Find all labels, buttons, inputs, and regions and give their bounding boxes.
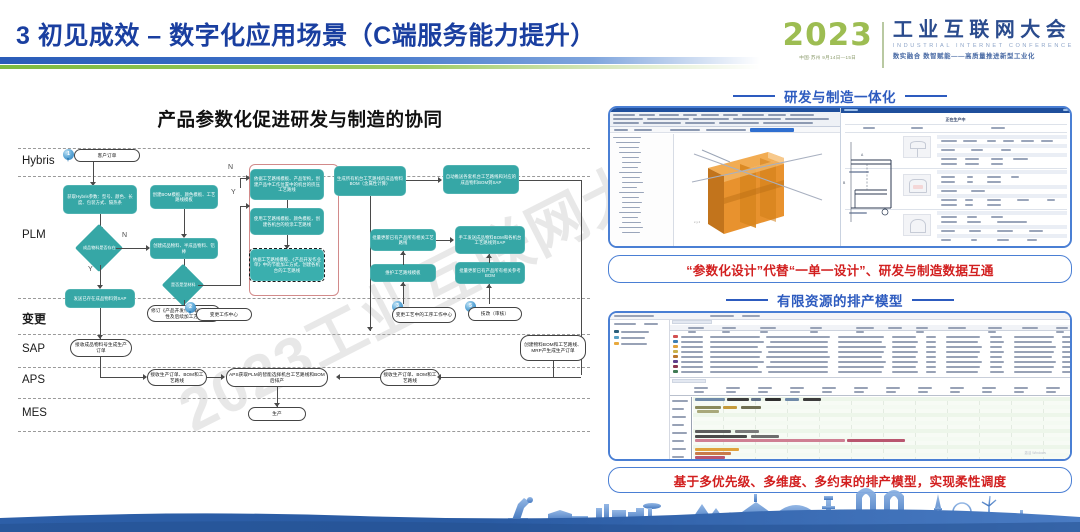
watermark-small: 激活 Windows: [1025, 450, 1046, 455]
svg-text:B: B: [843, 181, 846, 185]
city-skyline-icon: [0, 480, 1080, 532]
connector: [100, 377, 146, 378]
product-thumbnail: [903, 214, 931, 236]
arrow-head: [97, 335, 103, 339]
node-tpl-rule-b[interactable]: 使用工艺路线模板、颜色模板，创建各机台的喷涂工艺路线: [250, 208, 324, 235]
decision-label: 成品物料是否存在: [82, 245, 116, 250]
node-push-bom-sap[interactable]: 自动推送各套机台工艺路线和对应的成品物料BOM到SAP: [443, 165, 519, 194]
connector: [287, 200, 288, 208]
connector: [440, 377, 581, 378]
node-get-order-bom-1[interactable]: 接收生产订单、BOM和工艺路线: [147, 369, 207, 386]
arrow-head: [246, 203, 250, 209]
node-send-fg-to-sap[interactable]: 发送已存在成品物料到SAP: [65, 289, 135, 308]
connector: [184, 209, 185, 237]
slide-header: 3 初见成效 – 数字化应用场景（C端服务能力提升） 2023 中国·苏州 9月…: [0, 0, 1080, 82]
right-top-heading-wrap: 研发与制造一体化: [606, 86, 1074, 106]
logo-text-block: 工业互联网大会 INDUSTRIAL INTERNET CONFERENCE 数…: [884, 20, 1074, 60]
connector: [100, 357, 101, 377]
header-divider-rule: [0, 57, 760, 69]
form-title: 正在生产中: [841, 117, 1070, 123]
right-top-heading: 研发与制造一体化: [784, 86, 896, 106]
lane-label-hybris: Hybris: [22, 155, 55, 167]
node-create-bom-route-mrp[interactable]: 创建物料BOM和工艺路线、MRP产生成生产订单: [520, 335, 586, 361]
arrow-head: [400, 282, 406, 286]
timeline-header: [670, 384, 1070, 396]
lane-label-plm: PLM: [22, 229, 46, 241]
connector: [406, 180, 441, 181]
logo-year-block: 2023 中国·苏州 9月14日—15日: [783, 20, 882, 61]
page-title: 3 初见成效 – 数字化应用场景（C端服务能力提升）: [16, 16, 596, 52]
arrow-head: [367, 327, 373, 331]
gantt-grid[interactable]: 激活 Windows: [693, 397, 1070, 459]
node-change-workcenter[interactable]: 变更工作中心: [196, 308, 252, 321]
cad-3d-profile-model[interactable]: [672, 142, 832, 242]
cad-axis-label: x y z: [694, 220, 700, 224]
gantt-table-rows[interactable]: [670, 334, 1070, 378]
resource-column[interactable]: [670, 397, 692, 459]
node-gen-all-bom[interactable]: 生成所有机台工艺路线的成品物料BOM（含属性计算）: [334, 166, 406, 196]
badge-pin-1: 1: [63, 149, 74, 162]
logo-year: 2023: [783, 20, 873, 51]
product-data-form-screenshot[interactable]: 正在生产中: [840, 108, 1070, 246]
cad-model-tree[interactable]: [610, 134, 674, 246]
edge-label-no: N: [122, 232, 127, 239]
arrow-head: [221, 374, 225, 380]
arrow-head: [486, 284, 492, 288]
lane-label-sap: SAP: [22, 343, 45, 355]
heading-rule-right: [912, 299, 954, 302]
right-bottom-heading-wrap: 有限资源的排产模型: [606, 290, 1074, 310]
node-tpl-rule-c[interactable]: 依据工艺路线模板、《产品开发作业单》中的节能加工方式，创建各机台的工艺路线: [250, 249, 324, 281]
lane-divider: [18, 334, 590, 335]
right-top-caption: “参数化设计”代替“一单一设计”、研发与制造数据互通: [608, 255, 1072, 283]
connector: [240, 206, 241, 286]
gantt-timeline[interactable]: 激活 Windows: [670, 379, 1070, 459]
lane-label-aps: APS: [22, 374, 45, 386]
cad-workspace[interactable]: x y z: [610, 134, 840, 246]
app-toolbar-second[interactable]: [610, 127, 840, 133]
connector: [93, 162, 94, 184]
gantt-toolbar[interactable]: [610, 313, 1070, 320]
form-titlebar: [841, 108, 1070, 113]
table-tab[interactable]: [672, 320, 712, 324]
header-rule-blue: [0, 57, 760, 64]
node-acceptance[interactable]: 技改（审核）: [468, 307, 522, 321]
logo-year-subtitle: 中国·苏州 9月14日—15日: [783, 55, 873, 61]
node-batch-update-routes[interactable]: 批量更新已有产品所有相关工艺路线: [370, 229, 436, 251]
node-receive-order-sap[interactable]: 接收成品物料号生成生产订单: [70, 339, 132, 357]
conference-logo: 2023 中国·苏州 9月14日—15日 工业互联网大会 INDUSTRIAL …: [783, 20, 1074, 78]
connector: [553, 361, 554, 377]
connector: [198, 285, 240, 286]
arrow-head: [450, 237, 454, 243]
edge-label-yes: Y: [88, 266, 93, 273]
node-manual-push[interactable]: 手工发送成品物料BOM和各机台工艺路线到SAP: [455, 226, 525, 254]
timeline-tab[interactable]: [672, 379, 706, 383]
right-bottom-heading: 有限资源的排产模型: [777, 290, 903, 310]
lane-label-mes: MES: [22, 407, 47, 419]
node-get-order-bom-2[interactable]: 接收生产订单、BOM和工艺路线: [380, 369, 440, 386]
badge-pin-2: 2: [185, 302, 196, 315]
connector: [116, 248, 149, 249]
lane-label-change: 变更: [22, 310, 46, 327]
engineering-drawing: A B: [841, 134, 897, 230]
connector: [240, 178, 241, 188]
heading-rule-right: [905, 95, 947, 98]
edge-label-no2: N: [228, 164, 233, 171]
flowchart-title: 产品参数化促进研发与制造的协同: [0, 106, 600, 132]
svg-text:A: A: [861, 153, 864, 157]
gantt-filter-pane[interactable]: [610, 320, 670, 459]
flowchart-panel: 产品参数化促进研发与制造的协同 2023工业互联网大会 Hybris PLM 变…: [0, 86, 600, 454]
edge-label-yes2: Y: [231, 189, 236, 196]
node-maintain-tpl[interactable]: 维护工艺路线模板: [370, 264, 436, 282]
arrow-head: [336, 374, 340, 380]
connector: [519, 180, 581, 181]
app-ribbon[interactable]: [610, 112, 840, 127]
logo-name-en: INDUSTRIAL INTERNET CONFERENCE: [893, 43, 1074, 49]
screenshot-frame-top[interactable]: x y z 正在生产中: [608, 106, 1072, 248]
node-customer-order[interactable]: 客户订单: [74, 149, 140, 162]
lane-divider: [18, 398, 590, 399]
arrow-head: [437, 374, 441, 380]
node-change-process-wc[interactable]: 变更工艺中的工序工作中心: [392, 307, 456, 323]
aps-gantt-screenshot[interactable]: 激活 Windows: [610, 313, 1070, 459]
node-aps-schedule[interactable]: APS获取PLM的智能选择机台工艺路线和BOM后排产: [226, 368, 328, 387]
heading-rule-left: [733, 95, 775, 98]
product-thumbnail: [903, 136, 931, 158]
right-bottom-panel: 有限资源的排产模型: [606, 290, 1074, 312]
lane-divider: [18, 431, 590, 432]
connector: [340, 377, 380, 378]
node-create-bom-tpl[interactable]: 创建BOM模板、颜色模板、工艺路线模板: [150, 185, 218, 209]
node-create-fg-material[interactable]: 创建成品物料、半成品物料、铝棒: [150, 238, 218, 259]
product-thumbnail: [903, 174, 931, 196]
decision-label: 是否是型材料: [168, 282, 198, 287]
node-get-hybris-params[interactable]: 获取Hybris参数：型号、颜色、长度、包装方式、隔热条: [63, 185, 137, 214]
footer-decoration: [0, 480, 1080, 532]
node-tpl-rule-a[interactable]: 依据工艺路线模板、产品架构，创建产品中工作位置中的机台的挤压工艺路线: [250, 169, 324, 200]
logo-slogan: 数实融合 数智赋能——高质量推进新型工业化: [893, 51, 1074, 60]
cad-app-screenshot[interactable]: x y z: [610, 108, 840, 246]
node-production[interactable]: 生产: [248, 407, 306, 421]
screenshot-frame-bottom[interactable]: 激活 Windows: [608, 311, 1072, 461]
header-rule-green: [0, 65, 760, 69]
arrow-head: [400, 251, 406, 255]
node-batch-update-refs[interactable]: 批量更新已有产品所有相关参考BOM: [455, 262, 525, 284]
arrow-head: [486, 254, 492, 258]
connector: [370, 196, 371, 331]
logo-name-cn: 工业互联网大会: [893, 20, 1074, 41]
arrow-head: [438, 177, 442, 183]
heading-rule-left: [726, 299, 768, 302]
